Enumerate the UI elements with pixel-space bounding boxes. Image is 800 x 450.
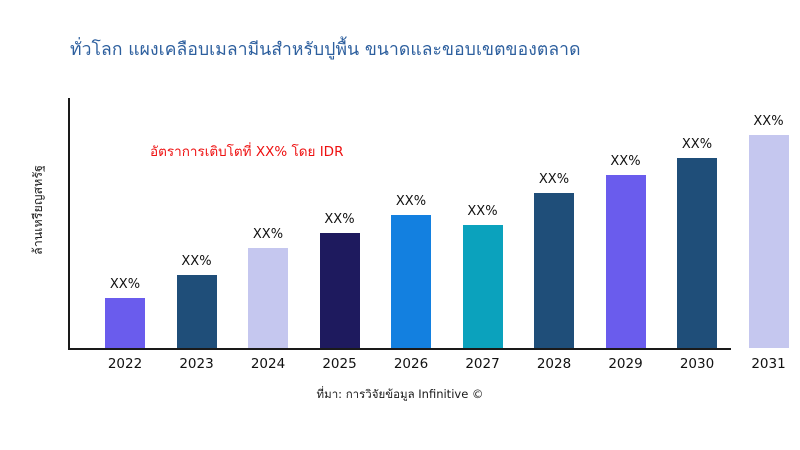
bar-value-label-2031: XX% bbox=[737, 114, 800, 129]
source-note: ที่มา: การวิจัยข้อมูล Infinitive © bbox=[0, 386, 800, 404]
bar-2028[interactable] bbox=[534, 193, 574, 348]
x-tick-2024: 2024 bbox=[236, 356, 300, 372]
bar-value-label-2025: XX% bbox=[308, 212, 372, 227]
chart-canvas: ทั่วโลก แผงเคลือบเมลามีนสำหรับปูพื้น ขนา… bbox=[0, 0, 800, 450]
bar-value-label-2022: XX% bbox=[93, 277, 157, 292]
x-tick-2028: 2028 bbox=[522, 356, 586, 372]
y-axis-label: ล้านเหรียญสหรัฐ bbox=[28, 110, 48, 310]
bar-2022[interactable] bbox=[105, 298, 145, 348]
x-tick-2031: 2031 bbox=[737, 356, 800, 372]
bar-value-label-2029: XX% bbox=[594, 154, 658, 169]
page-title: ทั่วโลก แผงเคลือบเมลามีนสำหรับปูพื้น ขนา… bbox=[70, 38, 760, 62]
bar-2029[interactable] bbox=[606, 175, 646, 348]
bar-2027[interactable] bbox=[463, 225, 503, 348]
growth-rate-annotation: อัตราการเติบโตที่ XX% โดย IDR bbox=[150, 140, 343, 162]
bar-value-label-2028: XX% bbox=[522, 172, 586, 187]
x-axis-line bbox=[68, 348, 731, 350]
bar-value-label-2024: XX% bbox=[236, 227, 300, 242]
bar-2031[interactable] bbox=[749, 135, 789, 348]
bar-2030[interactable] bbox=[677, 158, 717, 348]
x-tick-2026: 2026 bbox=[379, 356, 443, 372]
y-axis-line bbox=[68, 98, 70, 350]
bar-value-label-2026: XX% bbox=[379, 194, 443, 209]
x-tick-2029: 2029 bbox=[594, 356, 658, 372]
bar-value-label-2027: XX% bbox=[451, 204, 515, 219]
bar-2024[interactable] bbox=[248, 248, 288, 348]
bar-value-label-2023: XX% bbox=[165, 254, 229, 269]
bar-2026[interactable] bbox=[391, 215, 431, 348]
bar-value-label-2030: XX% bbox=[665, 137, 729, 152]
plot-area: XX%XX%XX%XX%XX%XX%XX%XX%XX%XX% bbox=[68, 98, 778, 350]
x-tick-2030: 2030 bbox=[665, 356, 729, 372]
x-tick-2025: 2025 bbox=[308, 356, 372, 372]
bar-2025[interactable] bbox=[320, 233, 360, 348]
bar-2023[interactable] bbox=[177, 275, 217, 348]
x-tick-2023: 2023 bbox=[165, 356, 229, 372]
x-tick-2027: 2027 bbox=[451, 356, 515, 372]
x-tick-2022: 2022 bbox=[93, 356, 157, 372]
